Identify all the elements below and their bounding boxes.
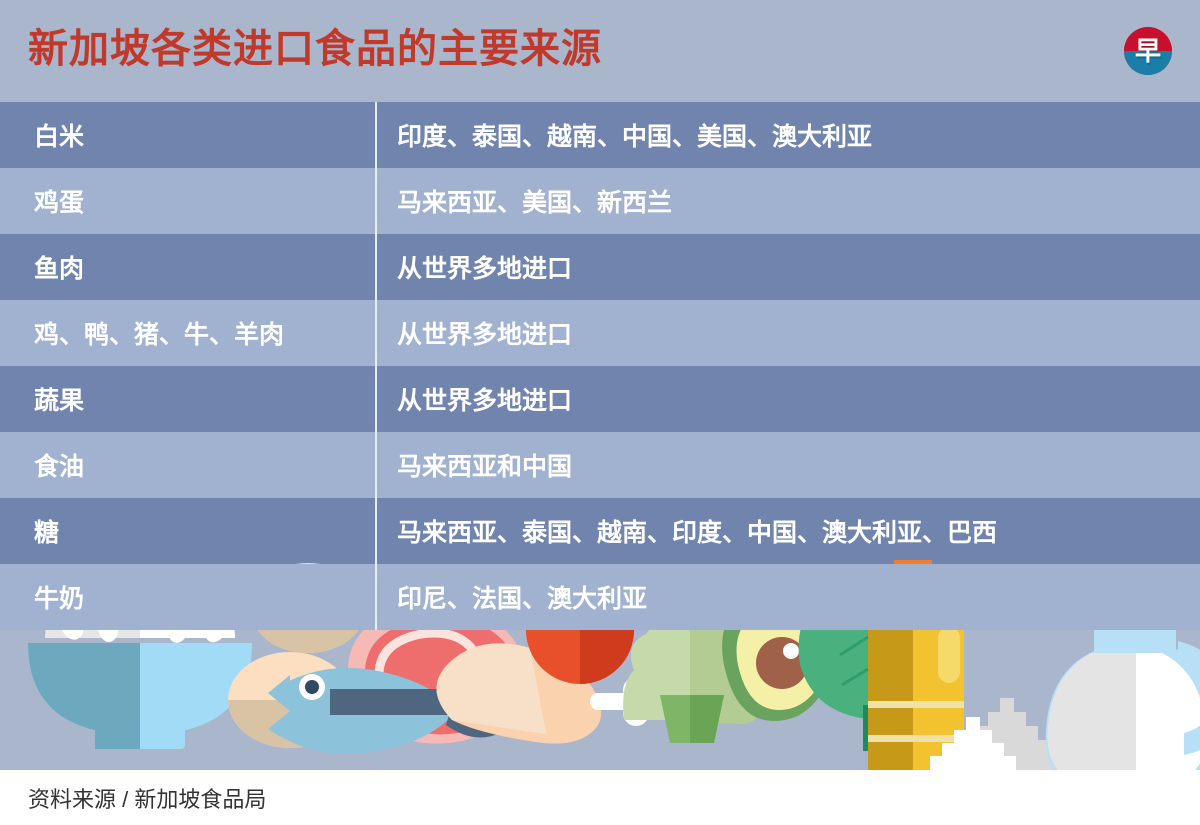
source-credit: 资料来源 / 新加坡食品局 [28,782,266,814]
food-source-value: 从世界多地进口 [375,315,1200,351]
table-row: 食油 马来西亚和中国 [0,432,1200,498]
table-row: 糖 马来西亚、泰国、越南、印度、中国、澳大利亚、巴西 [0,498,1200,564]
table-row: 鸡蛋 马来西亚、美国、新西兰 [0,168,1200,234]
column-divider [375,234,377,300]
food-category-label: 鸡蛋 [0,183,375,219]
food-source-value: 马来西亚和中国 [375,447,1200,483]
column-divider [375,366,377,432]
food-source-value: 印尼、法国、澳大利亚 [375,579,1200,615]
fish-icon [268,663,507,754]
egg-icon [228,652,352,748]
food-category-label: 白米 [0,117,375,153]
table-row: 鱼肉 从世界多地进口 [0,234,1200,300]
table-row: 牛奶 印尼、法国、澳大利亚 [0,564,1200,630]
food-category-label: 蔬果 [0,381,375,417]
logo-glyph: 早 [1124,27,1172,75]
food-category-label: 食油 [0,447,375,483]
food-source-value: 从世界多地进口 [375,249,1200,285]
infographic-root: 新加坡各类进口食品的主要来源 早 白米 印度、泰国、越南、中国、美国、澳大利亚 … [0,0,1200,825]
food-category-label: 牛奶 [0,579,375,615]
column-divider [375,168,377,234]
footer: 资料来源 / 新加坡食品局 [0,770,1200,825]
sugar-pile-icon [930,698,1062,770]
zaobao-logo-icon: 早 [1124,27,1172,75]
food-category-label: 鱼肉 [0,249,375,285]
food-source-value: 马来西亚、美国、新西兰 [375,183,1200,219]
column-divider [375,432,377,498]
food-category-label: 糖 [0,513,375,549]
food-source-value: 印度、泰国、越南、中国、美国、澳大利亚 [375,117,1200,153]
food-source-table: 白米 印度、泰国、越南、中国、美国、澳大利亚 鸡蛋 马来西亚、美国、新西兰 鱼肉… [0,102,1200,630]
food-category-label: 鸡、鸭、猪、牛、羊肉 [0,315,375,351]
column-divider [375,102,377,168]
header: 新加坡各类进口食品的主要来源 早 [0,0,1200,102]
table-row: 白米 印度、泰国、越南、中国、美国、澳大利亚 [0,102,1200,168]
table-row: 蔬果 从世界多地进口 [0,366,1200,432]
food-source-value: 马来西亚、泰国、越南、印度、中国、澳大利亚、巴西 [375,513,1200,549]
column-divider [375,300,377,366]
column-divider [375,498,377,564]
page-title: 新加坡各类进口食品的主要来源 [28,23,602,75]
chicken-drumstick-icon [436,643,649,743]
broccoli-icon [623,615,769,743]
food-source-value: 从世界多地进口 [375,381,1200,417]
table-row: 鸡、鸭、猪、牛、羊肉 从世界多地进口 [0,300,1200,366]
